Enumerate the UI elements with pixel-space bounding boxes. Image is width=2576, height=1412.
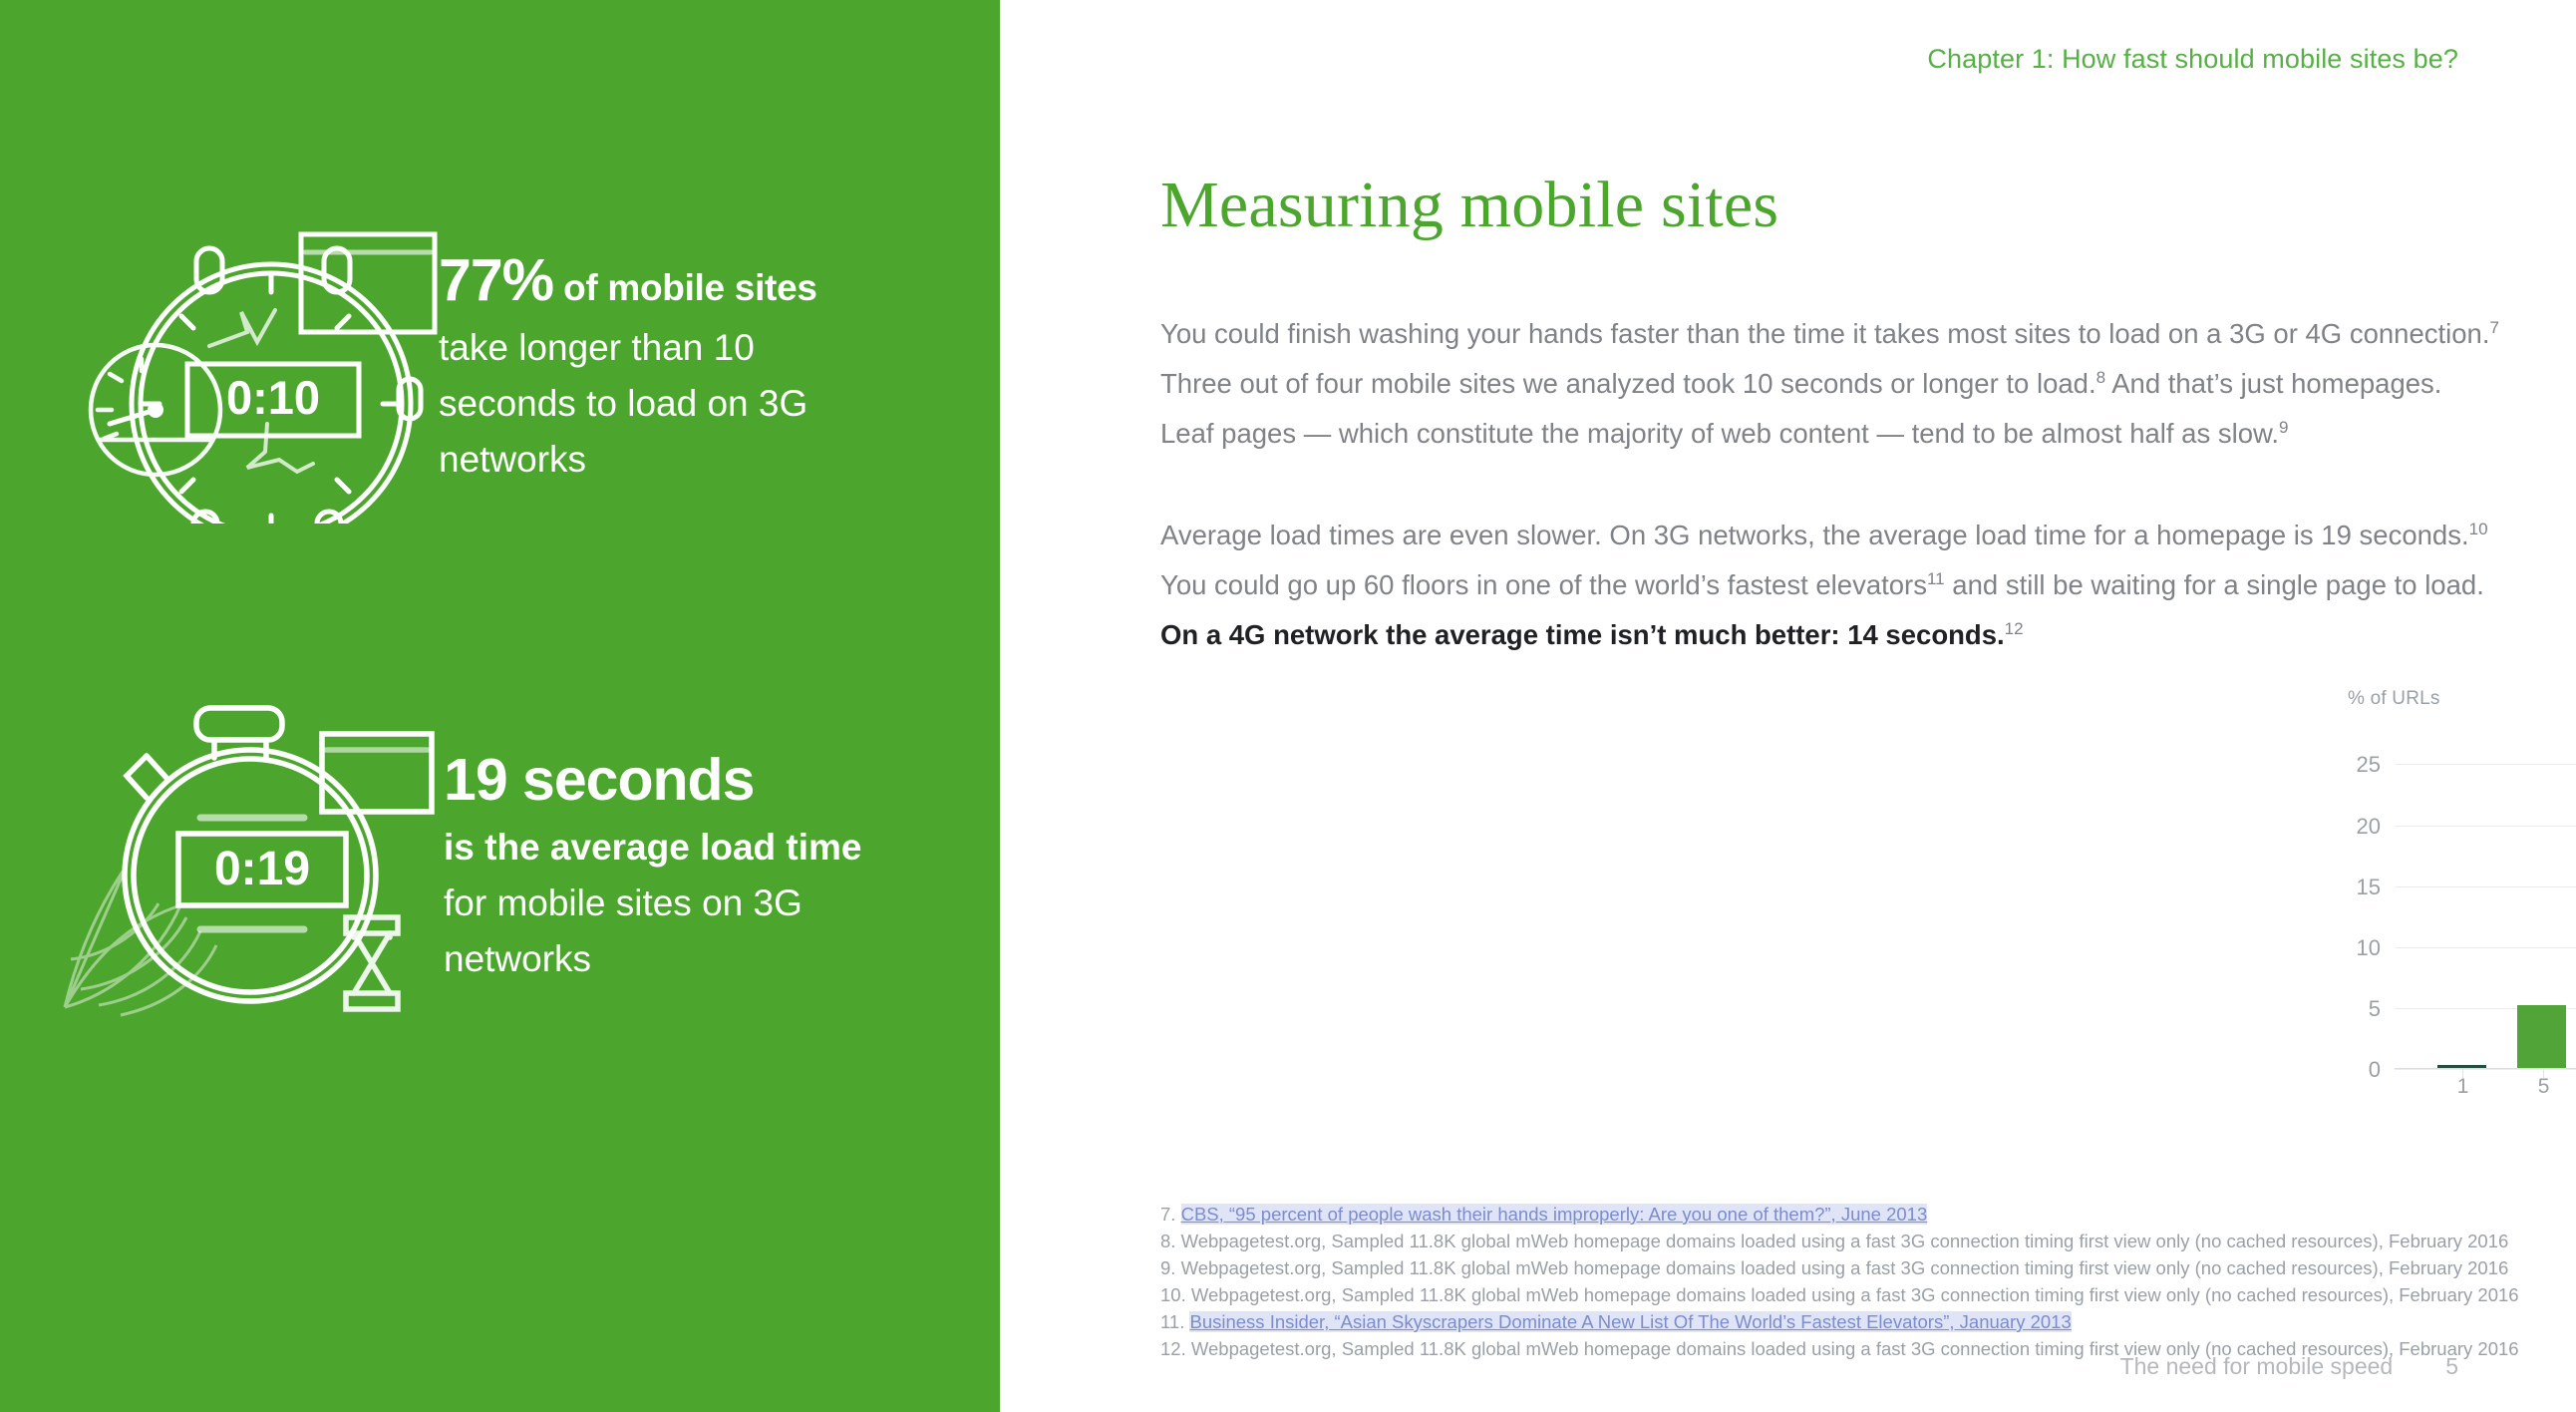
stat-block-77-percent: 0:10 77% of mobile sites take longer tha… [70,224,867,529]
footnote-item: 7. CBS, “95 percent of people wash their… [1160,1201,2506,1228]
chart-bar-slot [2502,740,2576,1069]
footnote-list: 7. CBS, “95 percent of people wash their… [1160,1201,2506,1362]
emphasis-text: On a 4G network the average time isn’t m… [1160,619,2005,650]
footnote-item: 11. Business Insider, “Asian Skyscrapers… [1160,1308,2506,1335]
stat-text-77: 77% of mobile sites take longer than 10 … [439,224,867,488]
stat-sub-77: take longer than 10 seconds to load on 3… [439,320,867,489]
chart-y-tick-label: 25 [2357,752,2381,778]
footnote-link[interactable]: CBS, “95 percent of people wash their ha… [1181,1204,1928,1225]
footnote-number: 9. [1160,1257,1181,1278]
chart-y-axis-label: % of URLs [2348,688,2440,710]
chart-y-tick-label: 0 [2369,1057,2381,1083]
footnote-text: Webpagetest.org, Sampled 11.8K global mW… [1181,1231,2509,1251]
chart-y-tick-label: 10 [2357,935,2381,961]
cobweb-stopwatch-icon: 0:19 [55,698,444,1032]
page-number: 5 [2445,1353,2458,1380]
footnote-link[interactable]: Business Insider, “Asian Skyscrapers Dom… [1189,1311,2071,1332]
stopwatch-digital-readout: 0:19 [214,843,310,895]
stat-headline-suffix-77: of mobile sites [553,267,817,308]
chart-y-tick-label: 20 [2357,814,2381,840]
left-infographic-panel: 0:10 77% of mobile sites take longer tha… [0,0,1000,1412]
footnote-ref[interactable]: 11 [1927,569,1945,588]
stat-headline-77: 77% of mobile sites [439,246,867,316]
body-paragraph-2: Average load times are even slower. On 3… [1160,511,2501,660]
footnote-item: 9. Webpagetest.org, Sampled 11.8K global… [1160,1254,2506,1281]
footnote-ref[interactable]: 7 [2490,318,2499,337]
chart-plot-area: 2520151050 [2395,740,2576,1069]
footnote-ref[interactable]: 10 [2469,520,2488,538]
footnote-text: Webpagetest.org, Sampled 11.8K global mW… [1191,1284,2519,1305]
stat-sub-rest-19: for mobile sites on 3G networks [444,882,803,979]
footnote-item: 8. Webpagetest.org, Sampled 11.8K global… [1160,1228,2506,1254]
footnote-number: 7. [1160,1204,1181,1225]
footnote-number: 12. [1160,1338,1191,1359]
cracked-alarm-clock-icon: 0:10 [70,224,439,529]
chart-x-tick-label: 1 [2422,1075,2503,1099]
chart-y-tick-label: 15 [2357,875,2381,900]
chart-bar [2517,1005,2566,1069]
chart-x-tick-labels: 151015202530354045 [2422,1075,2576,1099]
footnote-number: 10. [1160,1284,1191,1305]
clock-digital-readout: 0:10 [226,371,320,424]
page-footer: The need for mobile speed 5 [2120,1353,2458,1380]
stat-sub-lead-19: is the average load time [444,827,862,868]
footnote-ref[interactable]: 8 [2096,368,2105,387]
document-page: 0:10 77% of mobile sites take longer tha… [0,0,2576,1412]
footnote-ref[interactable]: 12 [2005,619,2024,638]
stat-text-19: 19 seconds is the average load time for … [444,698,872,987]
bar-chart: % of URLs 2520151050 151015202530354045 … [2348,688,2576,1157]
right-content-panel: Chapter 1: How fast should mobile sites … [1000,0,2576,1412]
stat-block-19-seconds: 0:19 19 seconds is the average load time… [55,698,872,1032]
stat-headline-19: 19 seconds [444,746,872,816]
footnote-item: 10. Webpagetest.org, Sampled 11.8K globa… [1160,1281,2506,1308]
stat-sub-19: is the average load time for mobile site… [444,820,872,988]
chart-bars [2422,740,2576,1069]
chart-x-tick-label: 5 [2503,1075,2576,1099]
footnote-number: 8. [1160,1231,1181,1251]
chapter-label: Chapter 1: How fast should mobile sites … [1927,44,2458,75]
stat-value-19: 19 seconds [444,747,754,813]
body-paragraph-1: You could finish washing your hands fast… [1160,309,2501,459]
chart-y-tick-label: 5 [2369,996,2381,1022]
page-title: Measuring mobile sites [1160,168,1778,243]
footer-doc-title: The need for mobile speed [2120,1353,2394,1380]
footnote-ref[interactable]: 9 [2279,418,2288,437]
footnote-number: 11. [1160,1311,1189,1332]
stat-value-77: 77% [439,247,553,313]
footnote-text: Webpagetest.org, Sampled 11.8K global mW… [1181,1257,2509,1278]
chart-bar-slot [2422,740,2502,1069]
chart-x-axis-label: Page load time (seconds) [2395,1117,2576,1141]
